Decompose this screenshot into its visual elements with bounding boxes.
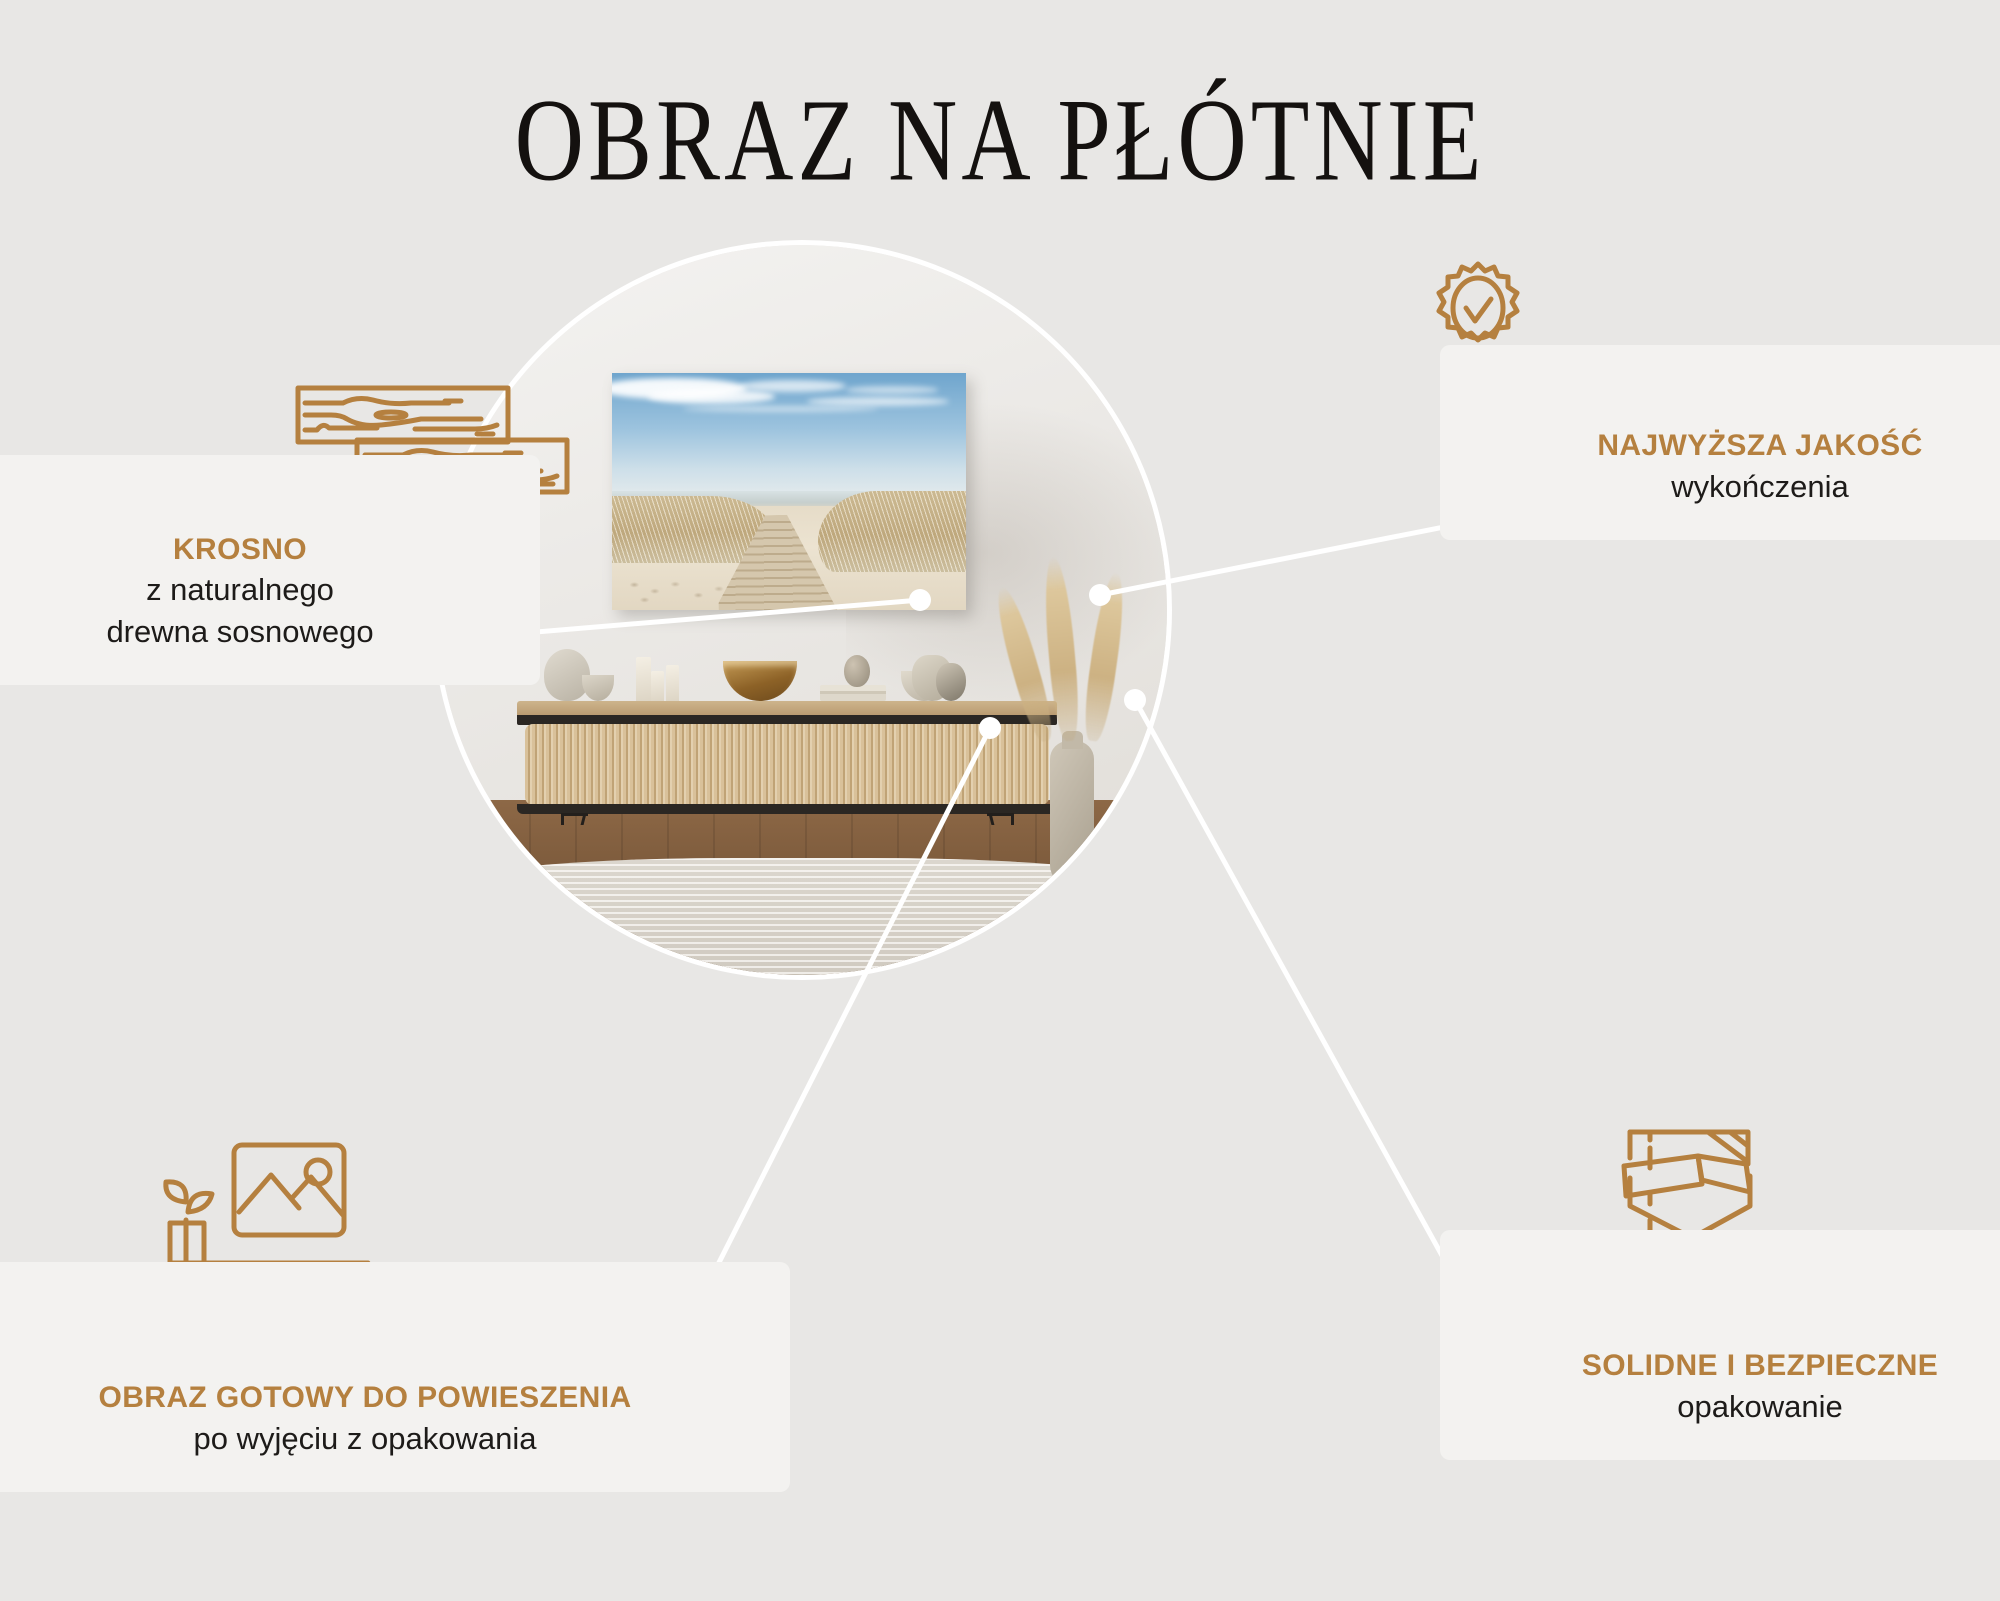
decor-candle — [666, 665, 679, 701]
area-rug — [466, 858, 1138, 975]
floor-vase — [1050, 741, 1094, 887]
feature-subtitle-krosno-line1: z naturalnego — [0, 571, 510, 609]
feature-heading-jakosc: NAJWYŻSZA JAKOŚĆ — [1470, 429, 2000, 464]
interior-scene — [437, 245, 1167, 975]
feature-subtitle-krosno-line2: drewna sosnowego — [0, 613, 510, 651]
decor-candle — [651, 671, 664, 701]
decor-stone — [844, 655, 870, 687]
shelf-line — [170, 1223, 368, 1263]
decor-books — [820, 685, 886, 701]
canvas-artwork — [612, 373, 966, 610]
feature-box-krosno: KROSNO z naturalnego drewna sosnowego — [0, 455, 540, 685]
artwork-sky — [612, 373, 966, 496]
feature-subtitle-opakowanie: opakowanie — [1470, 1388, 2000, 1426]
feature-heading-opakowanie: SOLIDNE I BEZPIECZNE — [1470, 1349, 2000, 1384]
product-scene-circle — [437, 245, 1167, 975]
decor-candle — [636, 657, 651, 701]
sideboard-fluted-doors — [525, 724, 1049, 806]
feature-heading-krosno: KROSNO — [0, 533, 510, 568]
feature-box-opakowanie: SOLIDNE I BEZPIECZNE opakowanie — [1440, 1230, 2000, 1460]
feature-subtitle-jakosc: wykończenia — [1470, 468, 2000, 506]
sideboard — [517, 701, 1057, 825]
decor-dark-vase — [936, 663, 966, 701]
feature-box-gotowy: OBRAZ GOTOWY DO POWIESZENIA po wyjęciu z… — [0, 1262, 790, 1492]
leader-line-opakowanie — [1135, 700, 1450, 1270]
feature-heading-gotowy: OBRAZ GOTOWY DO POWIESZENIA — [0, 1381, 760, 1416]
artwork-dune-grass-right — [818, 491, 967, 572]
feature-box-jakosc: NAJWYŻSZA JAKOŚĆ wykończenia — [1440, 345, 2000, 540]
plant-leaf-left — [166, 1182, 186, 1202]
page-title: OBRAZ NA PŁÓTNIE — [0, 72, 2000, 207]
feature-subtitle-gotowy: po wyjęciu z opakowania — [0, 1420, 760, 1458]
plant-leaf-right — [188, 1193, 212, 1212]
